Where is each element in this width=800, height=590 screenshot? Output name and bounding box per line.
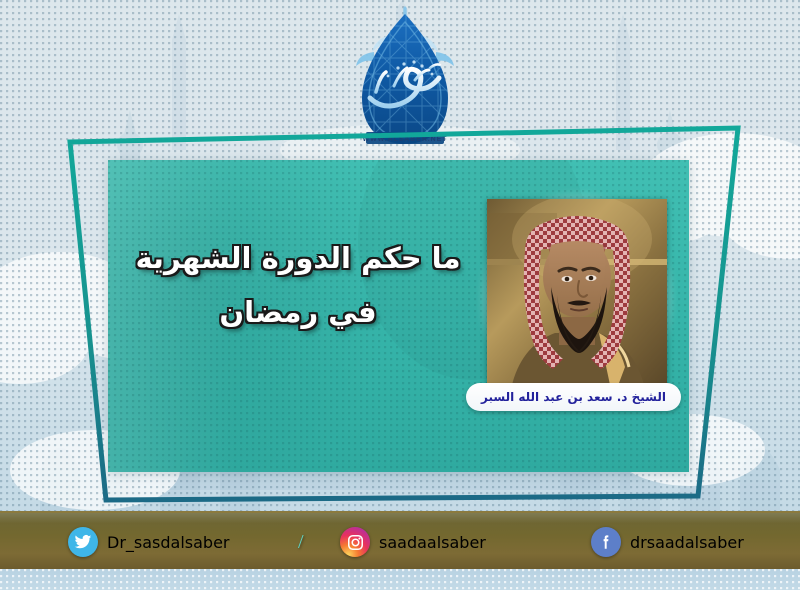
speaker-portrait bbox=[487, 199, 667, 399]
handle-separator: / bbox=[298, 531, 304, 554]
instagram-handle[interactable]: saadaalsaber bbox=[379, 533, 486, 552]
facebook-f-icon[interactable] bbox=[591, 527, 621, 557]
social-account-instagram[interactable]: saadaalsaber bbox=[340, 527, 486, 557]
speaker-nameplate: الشيخ د. سعد بن عبد الله السبر bbox=[466, 383, 681, 411]
twitter-bird-icon[interactable] bbox=[68, 527, 98, 557]
social-account-facebook[interactable]: drsaadalsaber bbox=[591, 527, 744, 557]
separator-slash: / bbox=[298, 531, 304, 554]
facebook-handle[interactable]: drsaadalsaber bbox=[630, 533, 744, 552]
poster-canvas: WWW.ALSABER.NET ما حكم الدورة الشهرية في… bbox=[0, 0, 800, 590]
instagram-camera-icon[interactable] bbox=[340, 527, 370, 557]
bottom-strip-dots bbox=[0, 569, 800, 590]
page-title: ما حكم الدورة الشهرية في رمضان bbox=[118, 232, 478, 339]
social-account-twitter[interactable]: Dr_sasdalsaber bbox=[68, 527, 230, 557]
twitter-handle[interactable]: Dr_sasdalsaber bbox=[107, 533, 230, 552]
bottom-strip bbox=[0, 569, 800, 590]
speaker-name-text: الشيخ د. سعد بن عبد الله السبر bbox=[481, 390, 666, 404]
social-footer-bar: Dr_sasdalsaber / saadaalsaber drsaadalsa… bbox=[0, 511, 800, 573]
footer-highlight bbox=[0, 513, 800, 523]
